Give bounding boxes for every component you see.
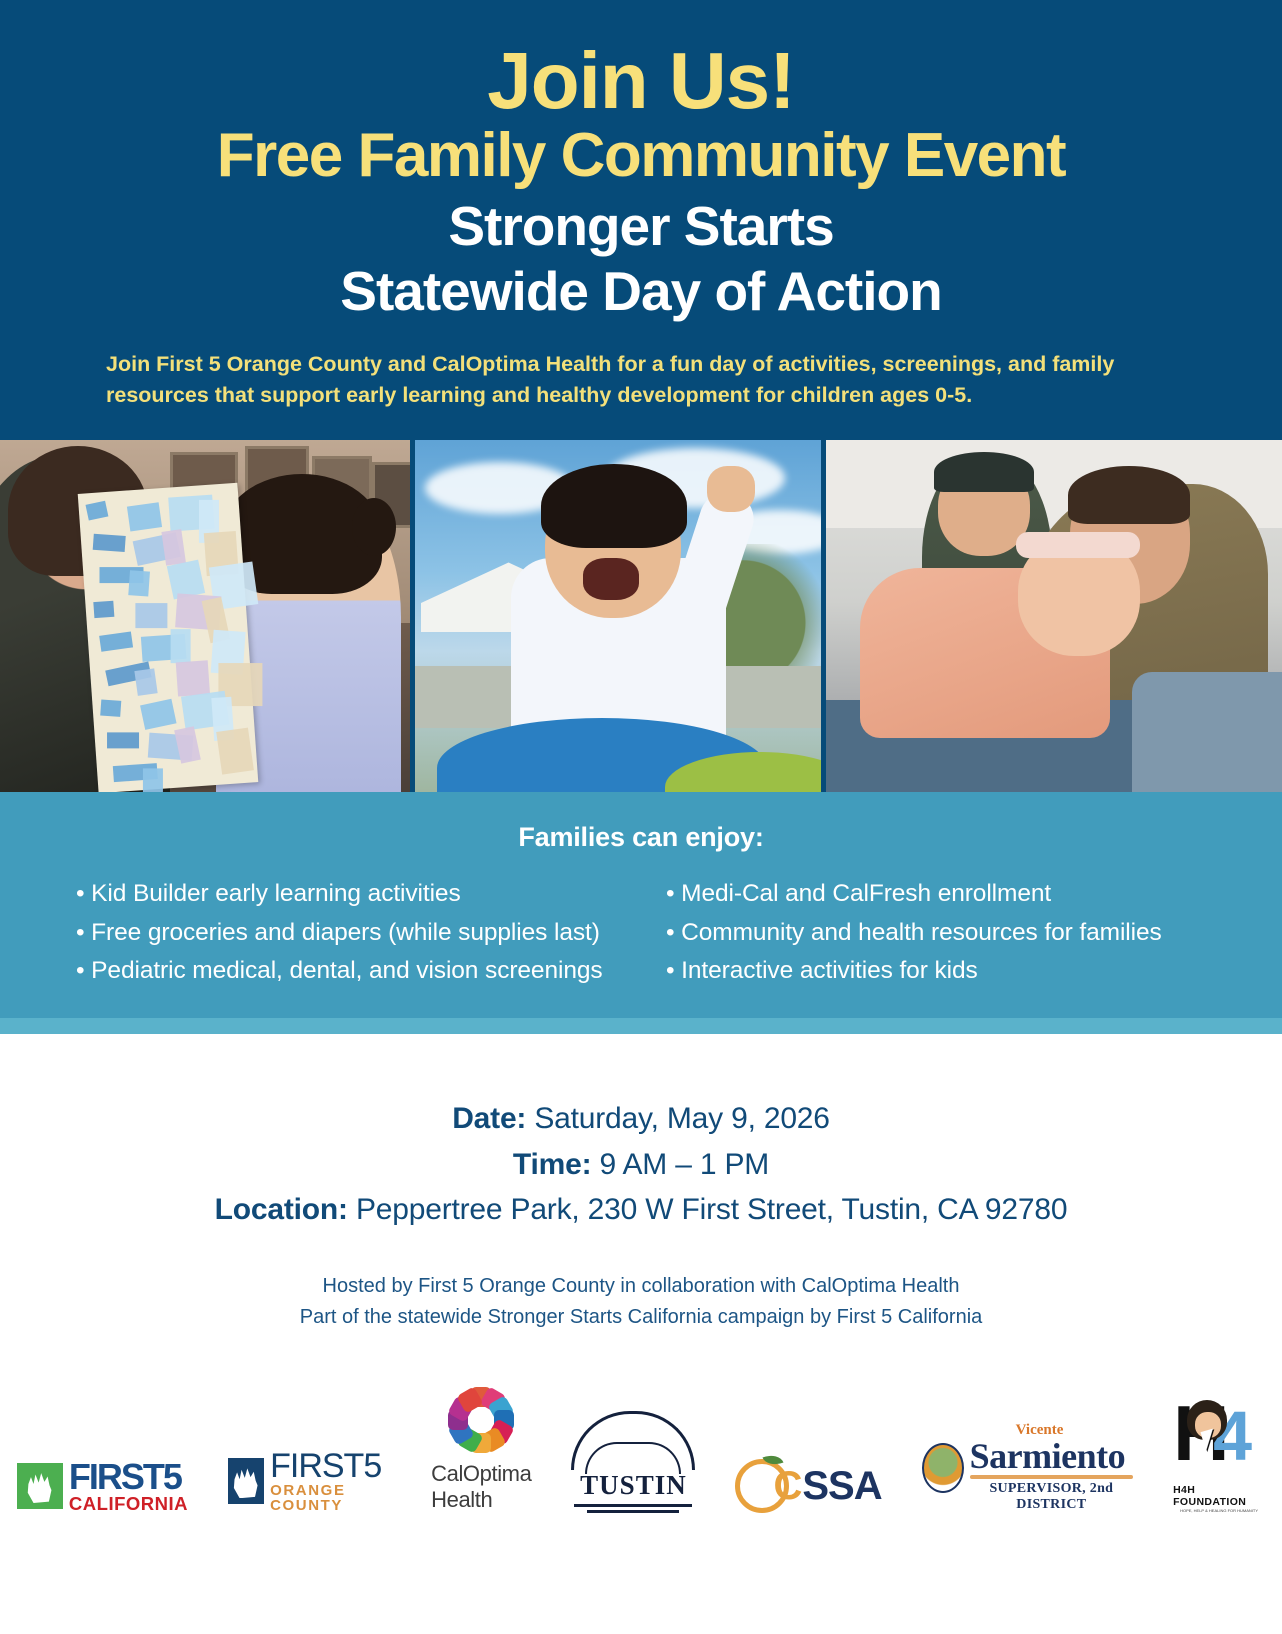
photo-craft-activity bbox=[0, 440, 410, 792]
time-label: Time: bbox=[513, 1148, 591, 1181]
location-label: Location: bbox=[215, 1193, 348, 1226]
hosted-line-1: Hosted by First 5 Orange County in colla… bbox=[0, 1271, 1282, 1302]
first5-oc-bottom: ORANGE COUNTY bbox=[270, 1483, 391, 1513]
sarmiento-last-name: Sarmiento bbox=[970, 1438, 1133, 1474]
hosted-line-2: Part of the statewide Stronger Starts Ca… bbox=[0, 1302, 1282, 1333]
first5-california-bottom: CALIFORNIA bbox=[69, 1495, 188, 1514]
photo3-boy-cap bbox=[934, 452, 1034, 492]
sarmiento-underline bbox=[970, 1475, 1133, 1479]
photo1-collage-tile bbox=[143, 769, 163, 793]
date-label: Date: bbox=[452, 1102, 526, 1135]
event-time-line: Time: 9 AM – 1 PM bbox=[0, 1142, 1282, 1188]
benefits-column-left: • Kid Builder early learning activities … bbox=[76, 875, 636, 990]
benefit-item: • Interactive activities for kids bbox=[666, 952, 1206, 990]
tustin-rule bbox=[587, 1510, 679, 1513]
logo-first5-california: FIRST5 CALIFORNIA bbox=[17, 1459, 188, 1514]
families-can-enjoy-title: Families can enjoy: bbox=[0, 822, 1282, 853]
partner-logo-bar: FIRST5 CALIFORNIA FIRST5 ORANGE COUNTY C… bbox=[0, 1333, 1282, 1531]
benefit-item: • Free groceries and diapers (while supp… bbox=[76, 914, 636, 952]
orange-county-seal-icon bbox=[922, 1443, 964, 1493]
photo1-collage-tile bbox=[140, 699, 176, 730]
event-flyer: Join Us! Free Family Community Event Str… bbox=[0, 0, 1282, 1634]
h4h-tagline: HOPE, HELP & HEALING FOR HUMANITY bbox=[1180, 1508, 1258, 1513]
first5-california-top: FIRST5 bbox=[69, 1459, 188, 1495]
logo-first5-orange-county: FIRST5 ORANGE COUNTY bbox=[228, 1449, 391, 1513]
families-can-enjoy-section: Families can enjoy: • Kid Builder early … bbox=[0, 792, 1282, 1018]
benefits-column-right: • Medi-Cal and CalFresh enrollment • Com… bbox=[666, 875, 1206, 990]
hosted-by-block: Hosted by First 5 Orange County in colla… bbox=[0, 1271, 1282, 1333]
photo-strip bbox=[0, 440, 1282, 792]
event-location-line: Location: Peppertree Park, 230 W First S… bbox=[0, 1187, 1282, 1233]
benefits-columns: • Kid Builder early learning activities … bbox=[0, 875, 1282, 990]
photo1-collage-tile bbox=[99, 632, 133, 652]
photo1-collage-tile bbox=[134, 669, 157, 697]
photo3-father-hair bbox=[1068, 466, 1190, 524]
headline-join-us: Join Us! bbox=[0, 42, 1282, 120]
photo1-collage-tile bbox=[128, 571, 150, 597]
h4h-monogram-icon: H 4 bbox=[1173, 1400, 1265, 1480]
time-value: 9 AM – 1 PM bbox=[591, 1148, 769, 1181]
logo-h4h-foundation: H 4 H4H FOUNDATION HOPE, HELP & HEALING … bbox=[1173, 1400, 1265, 1513]
header-description: Join First 5 Orange County and CalOptima… bbox=[92, 349, 1190, 410]
first5-oc-hand-icon bbox=[228, 1458, 264, 1504]
photo1-collage-tile bbox=[127, 503, 162, 532]
teal-accent-bar bbox=[0, 1018, 1282, 1034]
sarmiento-wordmark: Vicente Sarmiento SUPERVISOR, 2nd DISTRI… bbox=[970, 1423, 1133, 1513]
caloptima-wordmark: CalOptima Health bbox=[431, 1461, 531, 1513]
event-date-line: Date: Saturday, May 9, 2026 bbox=[0, 1096, 1282, 1142]
photo1-craft-paper bbox=[78, 483, 259, 792]
tustin-rule bbox=[574, 1504, 692, 1507]
photo2-child-hair bbox=[541, 464, 687, 548]
headline-free-family: Free Family Community Event bbox=[0, 124, 1282, 187]
logo-city-of-tustin: TUSTIN bbox=[571, 1411, 695, 1513]
location-value: Peppertree Park, 230 W First Street, Tus… bbox=[348, 1193, 1068, 1226]
headline-statewide-day: Statewide Day of Action bbox=[0, 259, 1282, 324]
first5-california-hand-icon bbox=[17, 1463, 63, 1509]
photo1-collage-tile bbox=[100, 700, 121, 717]
benefit-item: • Kid Builder early learning activities bbox=[76, 875, 636, 913]
photo1-collage-tile bbox=[93, 601, 114, 618]
benefit-item: • Pediatric medical, dental, and vision … bbox=[76, 952, 636, 990]
photo1-collage-tile bbox=[216, 728, 254, 775]
benefit-item: • Medi-Cal and CalFresh enrollment bbox=[666, 875, 1206, 913]
photo1-collage-tile bbox=[85, 501, 108, 521]
benefit-item: • Community and health resources for fam… bbox=[666, 914, 1206, 952]
sarmiento-title: SUPERVISOR, 2nd DISTRICT bbox=[970, 1481, 1133, 1513]
first5-oc-top: FIRST5 bbox=[270, 1449, 391, 1483]
flyer-header: Join Us! Free Family Community Event Str… bbox=[0, 0, 1282, 440]
logo-supervisor-sarmiento: Vicente Sarmiento SUPERVISOR, 2nd DISTRI… bbox=[922, 1423, 1133, 1513]
first5-california-wordmark: FIRST5 CALIFORNIA bbox=[69, 1459, 188, 1514]
photo3-baby-headband bbox=[1016, 532, 1140, 558]
headline-stronger-starts: Stronger Starts bbox=[0, 194, 1282, 259]
photo2-child-mouth bbox=[583, 558, 639, 600]
event-details: Date: Saturday, May 9, 2026 Time: 9 AM –… bbox=[0, 1034, 1282, 1333]
ocssa-ssa-letters: SSA bbox=[802, 1464, 881, 1509]
photo1-collage-tile bbox=[161, 530, 186, 566]
h4h-label: H4H FOUNDATION bbox=[1173, 1484, 1265, 1508]
photo1-collage-tile bbox=[135, 604, 167, 629]
photo1-collage-tile bbox=[171, 630, 191, 664]
ocssa-leaf-icon bbox=[763, 1452, 784, 1469]
logo-oc-social-services-agency: C SSA bbox=[735, 1459, 881, 1513]
photo-crawling-baby bbox=[826, 440, 1282, 792]
photo1-collage-tile bbox=[93, 534, 126, 552]
caloptima-flower-icon bbox=[446, 1385, 516, 1455]
photo1-collage-tile bbox=[107, 733, 139, 749]
date-value: Saturday, May 9, 2026 bbox=[526, 1102, 830, 1135]
photo-cheering-toddler bbox=[415, 440, 821, 792]
tustin-wordmark: TUSTIN bbox=[580, 1470, 687, 1501]
logo-caloptima-health: CalOptima Health bbox=[431, 1385, 531, 1513]
photo2-child-hand bbox=[707, 466, 755, 512]
photo3-mat-block bbox=[1132, 672, 1282, 792]
first5-oc-wordmark: FIRST5 ORANGE COUNTY bbox=[270, 1449, 391, 1513]
photo1-collage-tile bbox=[176, 661, 210, 697]
